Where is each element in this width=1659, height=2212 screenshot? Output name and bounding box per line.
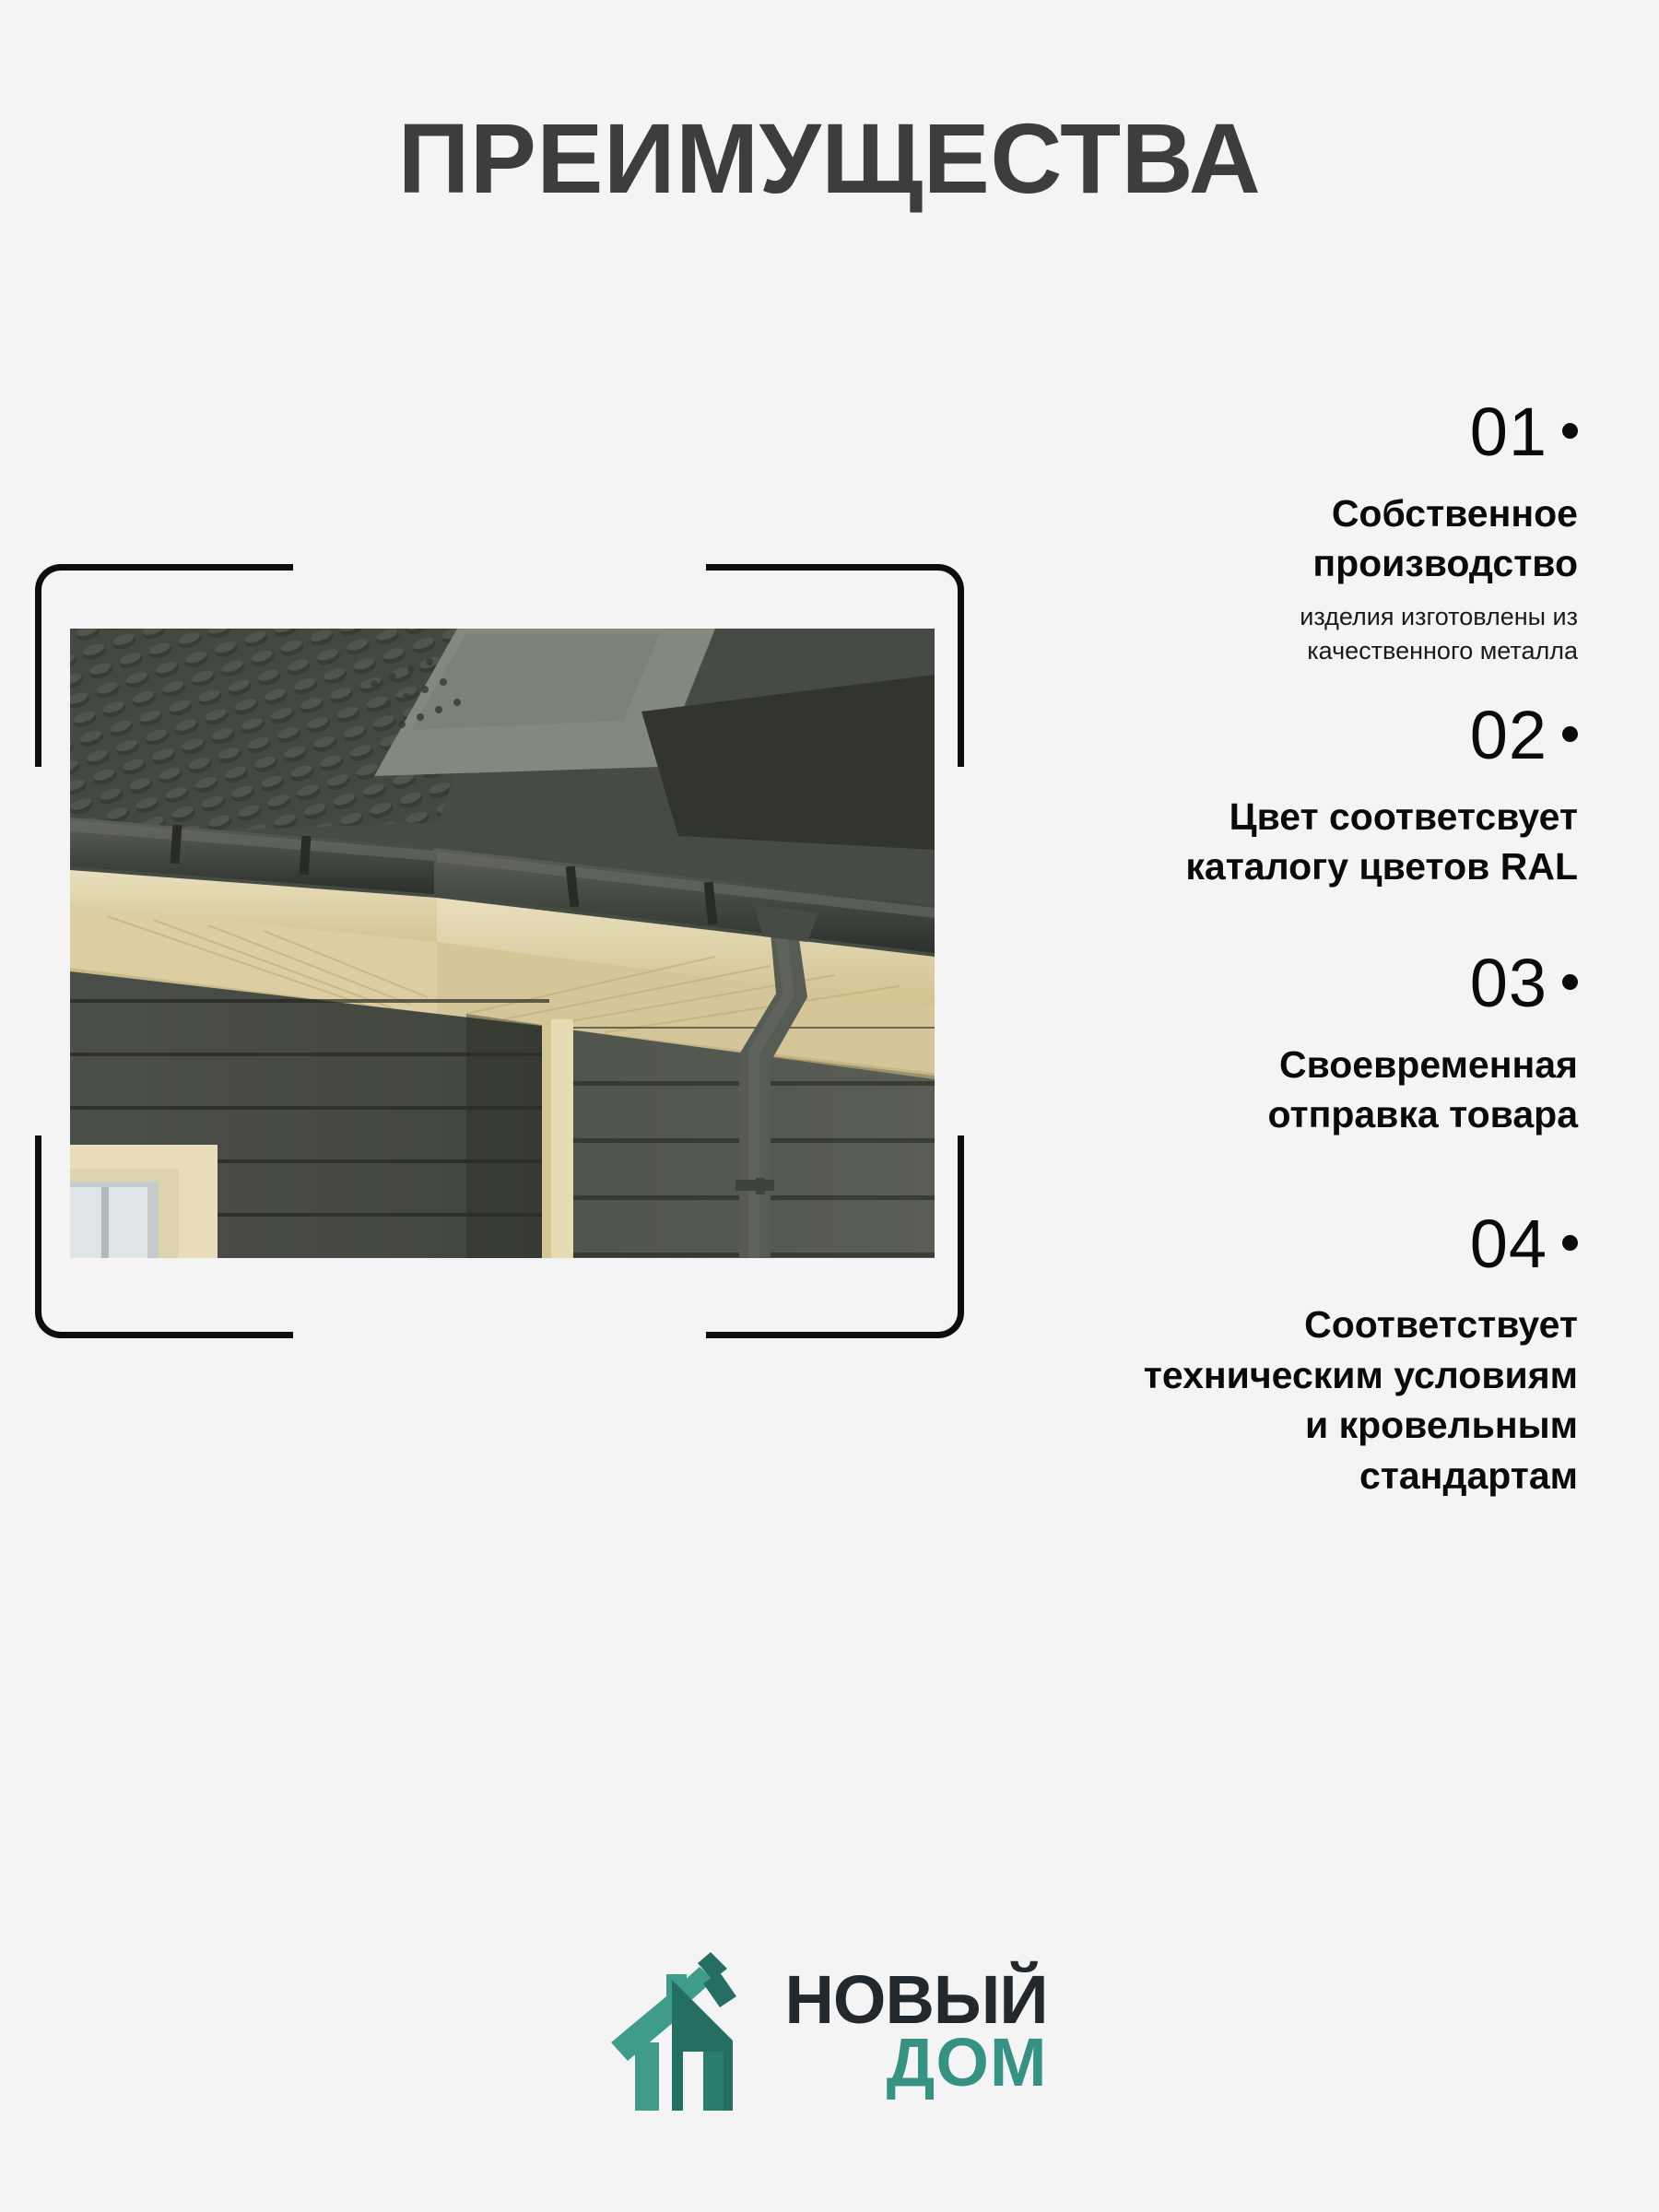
feature-title: Своевременная отправка товара	[922, 1040, 1578, 1140]
house-corner-photo-illustration	[70, 629, 935, 1258]
feature-item-04: 04 Соответствует техническим условиям и …	[922, 1208, 1578, 1501]
feature-title: Цвет соответсвует каталогу цветов RAL	[922, 792, 1578, 892]
house-icon	[611, 1952, 764, 2111]
feature-number-row: 02	[922, 700, 1578, 771]
feature-title: Собственное производство	[922, 488, 1578, 589]
bullet-dot-icon	[1562, 423, 1578, 439]
feature-item-03: 03 Своевременная отправка товара	[922, 947, 1578, 1140]
photo-frame	[35, 564, 964, 1338]
feature-subtitle: изделия изготовлены из качественного мет…	[922, 600, 1578, 669]
feature-number: 03	[1470, 945, 1547, 1021]
feature-number-row: 04	[922, 1208, 1578, 1280]
bullet-dot-icon	[1562, 1235, 1578, 1251]
feature-item-02: 02 Цвет соответсвует каталогу цветов RAL	[922, 700, 1578, 892]
feature-item-01: 01 Собственное производство изделия изго…	[922, 396, 1578, 668]
brand-word-top: НОВЫЙ	[784, 1969, 1047, 2031]
bullet-dot-icon	[1562, 726, 1578, 742]
feature-title: Соответствует техническим условиям и кро…	[922, 1300, 1578, 1500]
feature-number-row: 03	[922, 947, 1578, 1019]
feature-number: 04	[1470, 1206, 1547, 1282]
features-list: 01 Собственное производство изделия изго…	[922, 396, 1578, 1500]
feature-number: 01	[1470, 394, 1547, 470]
page-title: ПРЕИМУЩЕСТВА	[0, 109, 1659, 208]
bullet-dot-icon	[1562, 974, 1578, 990]
feature-number-row: 01	[922, 396, 1578, 468]
brand-logo: НОВЫЙ ДОМ	[0, 1952, 1659, 2111]
brand-wordmark: НОВЫЙ ДОМ	[784, 1969, 1047, 2094]
feature-number: 02	[1470, 697, 1547, 773]
brand-word-bottom: ДОМ	[784, 2031, 1047, 2094]
product-photo	[70, 629, 935, 1258]
